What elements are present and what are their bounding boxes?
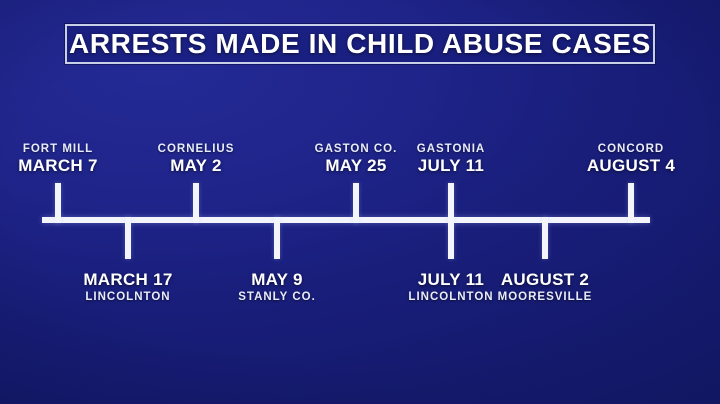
timeline-tick-below-1 [274, 217, 280, 259]
event-city-label: GASTON CO. [315, 143, 398, 155]
timeline-event-below-1: MAY 9STANLY CO. [238, 270, 316, 303]
event-date-label: JULY 11 [408, 270, 493, 290]
event-date-label: AUGUST 2 [498, 270, 593, 290]
timeline-event-above-4: CONCORDAUGUST 4 [587, 143, 675, 176]
timeline-event-above-1: CORNELIUSMAY 2 [158, 143, 235, 176]
timeline-tick-above-0 [55, 183, 61, 223]
event-city-label: STANLY CO. [238, 291, 316, 303]
timeline-tick-above-2 [353, 183, 359, 223]
timeline-event-below-3: AUGUST 2MOORESVILLE [498, 270, 593, 303]
event-city-label: FORT MILL [18, 143, 98, 155]
event-date-label: JULY 11 [417, 156, 486, 176]
event-date-label: MAY 9 [238, 270, 316, 290]
event-city-label: CONCORD [587, 143, 675, 155]
title-banner: ARRESTS MADE IN CHILD ABUSE CASES [65, 24, 655, 64]
event-city-label: MOORESVILLE [498, 291, 593, 303]
event-date-label: MAY 25 [315, 156, 398, 176]
timeline-tick-above-1 [193, 183, 199, 223]
event-city-label: GASTONIA [417, 143, 486, 155]
page-title: ARRESTS MADE IN CHILD ABUSE CASES [69, 28, 651, 60]
event-city-label: LINCOLNTON [83, 291, 172, 303]
timeline-tick-below-3 [542, 217, 548, 259]
timeline-tick-below-0 [125, 217, 131, 259]
timeline-event-above-3: GASTONIAJULY 11 [417, 143, 486, 176]
broadcast-graphic: ARRESTS MADE IN CHILD ABUSE CASES FORT M… [0, 0, 720, 404]
timeline-tick-above-4 [628, 183, 634, 223]
event-date-label: MARCH 7 [18, 156, 98, 176]
timeline-event-above-0: FORT MILLMARCH 7 [18, 143, 98, 176]
timeline-event-below-0: MARCH 17LINCOLNTON [83, 270, 172, 303]
event-date-label: MARCH 17 [83, 270, 172, 290]
event-date-label: AUGUST 4 [587, 156, 675, 176]
timeline-axis [42, 217, 650, 223]
event-date-label: MAY 2 [158, 156, 235, 176]
timeline-tick-above-3 [448, 183, 454, 259]
timeline-event-above-2: GASTON CO.MAY 25 [315, 143, 398, 176]
event-city-label: CORNELIUS [158, 143, 235, 155]
timeline-event-below-2: JULY 11LINCOLNTON [408, 270, 493, 303]
event-city-label: LINCOLNTON [408, 291, 493, 303]
